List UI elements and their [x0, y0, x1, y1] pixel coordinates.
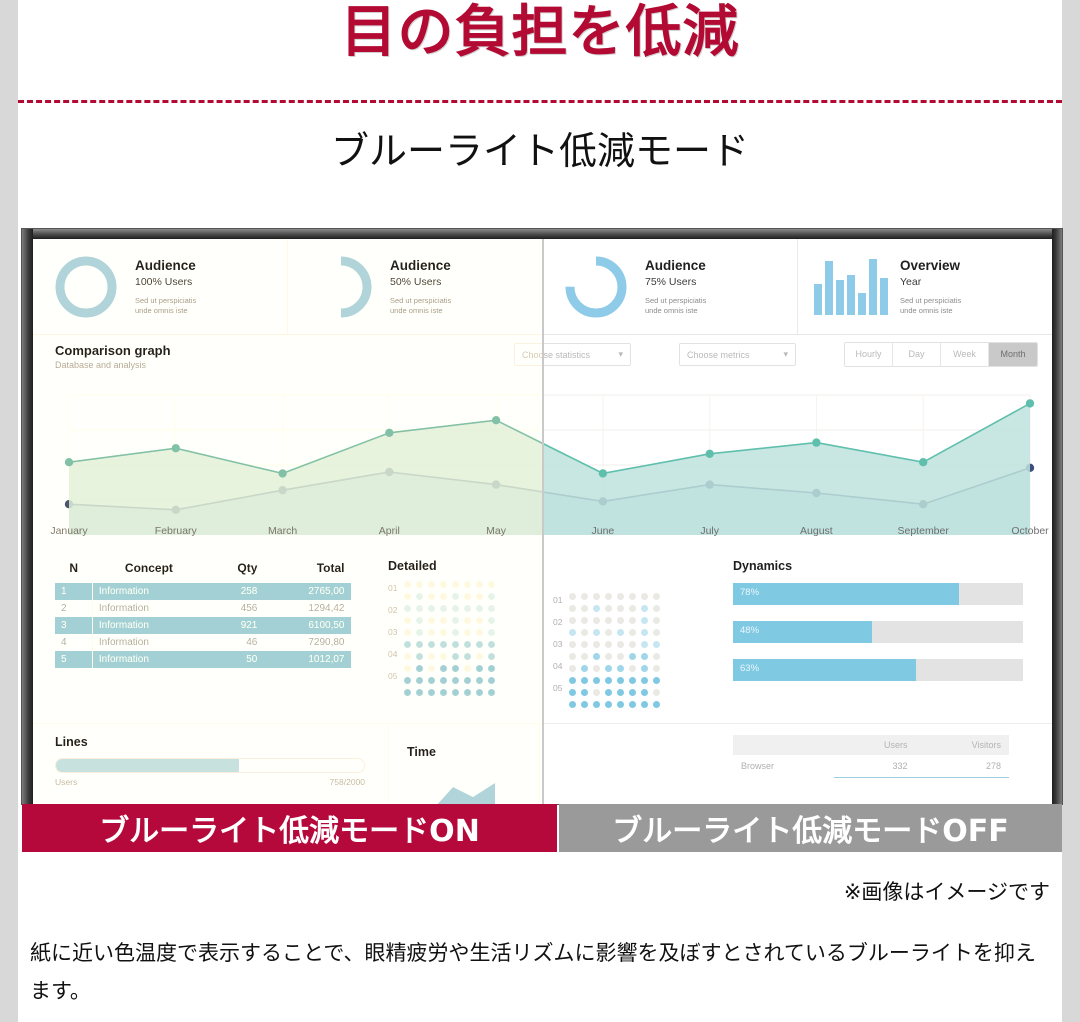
detail-dot-6-4-on [452, 653, 459, 660]
detail-dot-0-6-offb [641, 593, 648, 600]
detail-dot-7-4-offb [617, 677, 624, 684]
lines-meta-on: Users 758/2000 [55, 777, 365, 787]
detail-dot-5-1-offb [581, 653, 588, 660]
chart-point-s0-0-on [65, 458, 73, 466]
lines-count-on: 758/2000 [330, 777, 365, 787]
chart-xtick-5-off: June [592, 525, 615, 537]
detail-dot-1-6-offb [641, 605, 648, 612]
detail-dot-3-1-on [416, 617, 423, 624]
detail-dot-3-0-on [404, 617, 411, 624]
detail-dot-1-0-offb [569, 605, 576, 612]
detail-dot-5-2-offb [593, 653, 600, 660]
detail-row-label-02-offb: 02 [553, 617, 562, 639]
chart-xtick-4-on: May [486, 525, 506, 537]
detailed-block-on: Detailed 0504030201 [388, 559, 495, 696]
donut-ring-icon-on-1 [309, 255, 373, 319]
concept-table-on: NConceptQtyTotal 1 Information 258 2765,… [55, 559, 351, 668]
cell-concept-4-on: Information [92, 651, 205, 668]
chart-point-s0-3-on [385, 429, 393, 437]
kpi-title-1-on: Audience [390, 258, 451, 274]
detail-dot-6-7-offb [653, 665, 660, 672]
detail-dot-4-4-offb [617, 641, 624, 648]
detail-row-label-02-on: 02 [388, 605, 397, 627]
chart-xtick-9-off: October [1011, 525, 1048, 537]
detail-dot-7-1-offb [581, 677, 588, 684]
detail-row-label-01-on: 01 [388, 583, 397, 605]
browser-block-off: Users Visitors Browser 332 278 [733, 735, 1009, 778]
detail-dot-1-1-offb [581, 605, 588, 612]
kpi-text-1-on: Audience 50% Users Sed ut perspiciatisun… [380, 258, 451, 315]
detail-dot-4-6-offb [641, 641, 648, 648]
kpi-value-2-off: 75% Users [645, 275, 706, 289]
kpi-title-3-off: Overview [900, 258, 961, 274]
detail-dot-9-6-offb [641, 701, 648, 708]
kpi-visual-3-off [812, 251, 890, 323]
detail-dot-0-2-on [428, 581, 435, 588]
browser-users-off: 332 [834, 755, 915, 778]
detail-dot-8-4-offb [617, 689, 624, 696]
detail-dot-0-4-on [452, 581, 459, 588]
page-root: 目の負担を低減 ブルーライト低減モード Audience 100% Users … [18, 0, 1062, 1022]
detail-dot-1-7-on [488, 593, 495, 600]
table-row-on[interactable]: 1 Information 258 2765,00 [55, 583, 351, 600]
detail-dot-6-6-offb [641, 665, 648, 672]
chart-xtick-3-on: April [379, 525, 400, 537]
table-row-on[interactable]: 3 Information 921 6100,50 [55, 617, 351, 634]
range-option-week-off[interactable]: Week [941, 343, 989, 366]
detail-dot-4-5-offb [629, 641, 636, 648]
detail-dot-9-3-offb [605, 701, 612, 708]
cell-concept-3-on: Information [92, 634, 205, 651]
monitor-screen: Audience 100% Users Sed ut perspiciatisu… [33, 239, 1052, 804]
detail-dot-7-1-on [416, 665, 423, 672]
detail-dot-1-7-offb [653, 605, 660, 612]
detail-dot-5-7-offb [653, 653, 660, 660]
detail-dot-3-6-on [476, 617, 483, 624]
detail-dot-2-6-on [476, 605, 483, 612]
lines-title-on: Lines [55, 735, 365, 749]
chart-point-s0-7-off [812, 438, 820, 446]
detail-row-label-03-offb: 03 [553, 639, 562, 661]
feature-description: 紙に近い色温度で表示することで、眼精疲労や生活リズムに影響を及ぼすとされているブ… [30, 934, 1054, 1010]
statistics-select-on[interactable]: Choose statistics▾ [514, 343, 542, 366]
detail-dot-6-3-on [440, 653, 447, 660]
dynamics-bar-0-off: 78% [733, 583, 1023, 605]
detail-dot-3-3-on [440, 617, 447, 624]
detail-row-label-04-on: 04 [388, 649, 397, 671]
detail-row-label-05-offb: 05 [553, 683, 562, 705]
detail-dot-7-3-offb [605, 677, 612, 684]
time-card-on[interactable]: Time [388, 723, 540, 804]
detail-dot-4-1-on [416, 629, 423, 636]
detail-dot-9-1-on [416, 689, 423, 696]
detail-dot-1-6-on [476, 593, 483, 600]
detail-dot-9-2-offb [593, 701, 600, 708]
tint-normal: Audience 100% Users Sed ut perspiciatisu… [544, 239, 1052, 804]
detail-dot-1-5-offb [629, 605, 636, 612]
detailed-block-2-off: 0504030201 [553, 593, 660, 708]
detail-dot-6-2-offb [593, 665, 600, 672]
detail-dot-9-2-on [428, 689, 435, 696]
detail-dot-0-6-on [476, 581, 483, 588]
detail-dot-8-7-on [488, 677, 495, 684]
detail-dot-2-3-on [440, 605, 447, 612]
detail-dot-9-0-offb [569, 701, 576, 708]
detail-dot-7-7-on [488, 665, 495, 672]
banner-bluelight-off: ブルーライト低減モードOFF [559, 804, 1062, 852]
detail-dot-4-0-on [404, 629, 411, 636]
detail-dot-2-6-offb [641, 617, 648, 624]
detail-dot-6-0-offb [569, 665, 576, 672]
page-title: 目の負担を低減 [18, 2, 1062, 64]
table-col-n-on: N [55, 559, 92, 583]
detail-dot-0-2-offb [593, 593, 600, 600]
table-header-row-on: NConceptQtyTotal [55, 559, 351, 583]
statistics-select-off[interactable]: Choose statistics▾ [544, 343, 631, 366]
table-col-concept-on: Concept [92, 559, 205, 583]
kpi-text-3-off: Overview Year Sed ut perspiciatisunde om… [890, 258, 961, 315]
statistics-select-label-off: Choose statistics [544, 350, 590, 360]
detail-row-labels-on: 0504030201 [388, 581, 397, 693]
detail-dot-8-4-on [452, 677, 459, 684]
detail-dot-0-0-offb [569, 593, 576, 600]
range-segmented-control-off[interactable]: HourlyDayWeekMonth [844, 342, 1038, 367]
detail-dot-9-5-offb [629, 701, 636, 708]
cell-qty-1-on: 456 [205, 600, 263, 617]
detail-row-label-01-offb: 01 [553, 595, 562, 617]
detail-dot-0-1-offb [581, 593, 588, 600]
detail-dot-2-5-on [464, 605, 471, 612]
detail-dot-2-4-offb [617, 617, 624, 624]
detail-dot-3-0-offb [569, 629, 576, 636]
detail-dot-1-3-on [440, 593, 447, 600]
chart-xtick-1-on: February [155, 525, 197, 537]
chart-xtick-7-off: August [800, 525, 833, 537]
kpi-card-3-off[interactable]: Overview Year Sed ut perspiciatisunde om… [798, 239, 1052, 334]
detail-dot-3-4-on [452, 617, 459, 624]
detail-row-labels-offb: 0504030201 [553, 593, 562, 705]
browser-row-label-off: Browser [733, 755, 834, 778]
kpi-visual-0-on [47, 251, 125, 323]
kpi-text-0-on: Audience 100% Users Sed ut perspiciatisu… [125, 258, 196, 315]
detailed-title-on: Detailed [388, 559, 495, 573]
detail-dot-9-6-on [476, 689, 483, 696]
detail-dot-6-3-offb [605, 665, 612, 672]
detail-dot-0-4-offb [617, 593, 624, 600]
comparison-subtitle-on: Database and analysis [55, 360, 146, 370]
dynamics-label-0-off: 78% [740, 587, 759, 598]
detail-dot-8-1-offb [581, 689, 588, 696]
chart-xtick-2-on: March [268, 525, 297, 537]
cell-total-4-on: 1012,07 [263, 651, 350, 668]
chart-point-s0-4-on [492, 416, 500, 424]
detailed-grid-offb: 0504030201 [553, 593, 660, 708]
metrics-select-off[interactable]: Choose metrics▾ [679, 343, 796, 366]
image-disclaimer: ※画像はイメージです [844, 876, 1050, 906]
detail-dot-2-4-on [452, 605, 459, 612]
detail-dot-9-4-offb [617, 701, 624, 708]
comparison-controls-off: Choose statistics▾ Choose metrics▾ Hourl… [544, 342, 1038, 367]
detail-dot-8-1-on [416, 677, 423, 684]
kpi-value-3-off: Year [900, 275, 961, 289]
detail-dot-7-7-offb [653, 677, 660, 684]
detail-dot-5-7-on [488, 641, 495, 648]
detail-dot-4-7-offb [653, 641, 660, 648]
detail-dot-9-0-on [404, 689, 411, 696]
kpi-visual-1-on [302, 251, 380, 323]
detail-dot-8-3-on [440, 677, 447, 684]
chart-area-series-0-off [544, 403, 1030, 535]
detail-dot-4-0-offb [569, 641, 576, 648]
kpi-card-1-on[interactable]: Audience 50% Users Sed ut perspiciatisun… [288, 239, 542, 334]
cell-n-3-on: 4 [55, 634, 92, 651]
detail-dot-8-2-offb [593, 689, 600, 696]
time-card-sparkline-icon-on [435, 781, 495, 804]
kpi-note-3-off: Sed ut perspiciatisunde omnis iste [900, 296, 961, 315]
mini-bar-chart-icon-off [814, 259, 888, 315]
table-col-qty-on: Qty [205, 559, 263, 583]
detail-dot-3-2-offb [593, 629, 600, 636]
kpi-value-0-on: 100% Users [135, 275, 196, 289]
detail-dot-8-0-offb [569, 689, 576, 696]
detail-dot-6-7-on [488, 653, 495, 660]
kpi-note-2-off: Sed ut perspiciatisunde omnis iste [645, 296, 706, 315]
cell-concept-2-on: Information [92, 617, 205, 634]
detail-dot-2-1-offb [581, 617, 588, 624]
chevron-down-icon-metrics-off: ▾ [783, 349, 788, 360]
screen-half-bluelight-on: Audience 100% Users Sed ut perspiciatisu… [33, 239, 542, 804]
detail-dot-4-4-on [452, 629, 459, 636]
kpi-card-2-off[interactable]: Audience 75% Users Sed ut perspiciatisun… [544, 239, 798, 334]
browser-col-blank-off [733, 735, 834, 755]
detail-dot-4-7-on [488, 629, 495, 636]
chart-point-s0-8-off [919, 458, 927, 466]
detail-dot-7-5-offb [629, 677, 636, 684]
detail-dot-5-4-on [452, 641, 459, 648]
table-block-on: NConceptQtyTotal 1 Information 258 2765,… [55, 559, 351, 668]
detail-dot-3-5-offb [629, 629, 636, 636]
detail-dot-6-4-offb [617, 665, 624, 672]
detail-dot-8-5-on [464, 677, 471, 684]
kpi-title-2-off: Audience [645, 258, 706, 274]
detail-dot-3-7-on [488, 617, 495, 624]
detail-dot-5-5-offb [629, 653, 636, 660]
detail-dot-7-2-on [428, 665, 435, 672]
kpi-row-off: Audience 100% Users Sed ut perspiciatisu… [544, 239, 1052, 335]
kpi-row-on: Audience 100% Users Sed ut perspiciatisu… [33, 239, 542, 335]
detail-dot-4-3-offb [605, 641, 612, 648]
detail-dot-6-0-on [404, 653, 411, 660]
chart-point-s0-6-off [706, 450, 714, 458]
chart-xtick-8-off: September [898, 525, 949, 537]
detail-dot-3-3-offb [605, 629, 612, 636]
detail-dot-2-7-on [488, 605, 495, 612]
lines-progress-bar-on[interactable] [55, 758, 365, 773]
comparison-header-on: Comparison graph Database and analysis C… [33, 335, 542, 385]
bezel-left [22, 229, 33, 804]
chart-point-s0-2-on [278, 469, 286, 477]
detail-dot-4-6-on [476, 629, 483, 636]
detail-dot-6-1-offb [581, 665, 588, 672]
dynamics-bar-2-off: 63% [733, 659, 1023, 681]
dynamics-label-1-off: 48% [740, 625, 759, 636]
detail-dot-9-4-on [452, 689, 459, 696]
detail-dot-9-3-on [440, 689, 447, 696]
detail-dot-5-4-offb [617, 653, 624, 660]
chart-xaxis-labels-on: JanuaryFebruaryMarchAprilMayJuneJulyAugu… [33, 525, 542, 549]
monitor-device: Audience 100% Users Sed ut perspiciatisu… [22, 229, 1062, 804]
detail-dot-0-3-on [440, 581, 447, 588]
lines-axis-label-on: Users [55, 777, 77, 787]
range-option-day-off[interactable]: Day [893, 343, 941, 366]
chart-point-s0-9-off [1026, 399, 1034, 407]
chart-point-s0-5-off [599, 469, 607, 477]
range-option-hourly-off[interactable]: Hourly [845, 343, 893, 366]
dynamics-block-off: Dynamics 78% 48% 63% [733, 559, 1023, 697]
bezel-right [1052, 229, 1062, 804]
detail-row-label-04-offb: 04 [553, 661, 562, 683]
detail-dot-8-3-offb [605, 689, 612, 696]
kpi-card-0-on[interactable]: Audience 100% Users Sed ut perspiciatisu… [33, 239, 288, 334]
detail-dot-6-2-on [428, 653, 435, 660]
detail-dot-9-5-on [464, 689, 471, 696]
detail-dot-2-0-offb [569, 617, 576, 624]
browser-col-visitors-off: Visitors [916, 735, 1010, 755]
cell-concept-1-on: Information [92, 600, 205, 617]
detail-dot-4-5-on [464, 629, 471, 636]
detail-dot-1-0-on [404, 593, 411, 600]
detail-dot-1-3-offb [605, 605, 612, 612]
chart-point-s0-1-on [172, 444, 180, 452]
detail-dot-2-2-offb [593, 617, 600, 624]
detail-dot-8-6-on [476, 677, 483, 684]
table-row-on[interactable]: 5 Information 50 1012,07 [55, 651, 351, 668]
dynamics-label-2-off: 63% [740, 663, 759, 674]
cell-n-0-on: 1 [55, 583, 92, 600]
detail-dot-5-1-on [416, 641, 423, 648]
detail-dot-2-1-on [416, 605, 423, 612]
chart-xtick-0-on: January [50, 525, 87, 537]
detail-dot-9-7-on [488, 689, 495, 696]
detail-dot-2-5-offb [629, 617, 636, 624]
table-col-total-on: Total [263, 559, 350, 583]
dynamics-bar-1-off: 48% [733, 621, 1023, 643]
detail-dot-1-4-offb [617, 605, 624, 612]
detail-row-label-03-on: 03 [388, 627, 397, 649]
detail-dot-2-2-on [428, 605, 435, 612]
detail-dot-7-0-offb [569, 677, 576, 684]
detail-dot-8-7-offb [653, 689, 660, 696]
browser-table-off: Users Visitors Browser 332 278 [733, 735, 1009, 778]
browser-visitors-off: 278 [916, 755, 1010, 778]
statistics-select-label-on: Choose statistics [522, 350, 542, 360]
comparison-controls-on: Choose statistics▾ Choose metrics▾ Hourl… [514, 342, 542, 367]
detail-dot-6-6-on [476, 653, 483, 660]
detail-dot-2-0-on [404, 605, 411, 612]
chart-xaxis-labels-off: JanuaryFebruaryMarchAprilMayJuneJulyAugu… [544, 525, 1052, 549]
detail-dot-7-4-on [452, 665, 459, 672]
detail-dot-0-5-on [464, 581, 471, 588]
detail-dot-5-5-on [464, 641, 471, 648]
detail-dot-6-5-offb [629, 665, 636, 672]
chart-xtick-6-off: July [700, 525, 719, 537]
detail-row-label-05-on: 05 [388, 671, 397, 693]
detail-dot-7-5-on [464, 665, 471, 672]
detail-dot-5-6-on [476, 641, 483, 648]
detail-dot-5-3-on [440, 641, 447, 648]
detail-dot-5-2-on [428, 641, 435, 648]
cell-qty-2-on: 921 [205, 617, 263, 634]
tint-warm: Audience 100% Users Sed ut perspiciatisu… [33, 239, 542, 804]
detail-dot-5-0-offb [569, 653, 576, 660]
kpi-visual-2-off [557, 251, 635, 323]
detail-dot-2-3-offb [605, 617, 612, 624]
detail-dot-3-5-on [464, 617, 471, 624]
detail-dot-matrix-on [404, 581, 495, 696]
detail-dot-0-3-offb [605, 593, 612, 600]
detail-dot-1-1-on [416, 593, 423, 600]
banner-bluelight-on: ブルーライト低減モードON [22, 804, 557, 852]
kpi-note-1-on: Sed ut perspiciatisunde omnis iste [390, 296, 451, 315]
detail-dot-2-7-offb [653, 617, 660, 624]
kpi-note-0-on: Sed ut perspiciatisunde omnis iste [135, 296, 196, 315]
detail-dot-4-1-offb [581, 641, 588, 648]
cell-total-2-on: 6100,50 [263, 617, 350, 634]
browser-row-off[interactable]: Browser 332 278 [733, 755, 1009, 778]
time-card-title-on: Time [407, 745, 539, 759]
table-row-on[interactable]: 4 Information 46 7290,80 [55, 634, 351, 651]
cell-qty-3-on: 46 [205, 634, 263, 651]
detail-dot-6-1-on [416, 653, 423, 660]
detail-dot-9-7-offb [653, 701, 660, 708]
detail-dot-7-6-offb [641, 677, 648, 684]
kpi-value-1-on: 50% Users [390, 275, 451, 289]
cell-total-1-on: 1294,42 [263, 600, 350, 617]
comparison-title-on: Comparison graph [55, 343, 171, 358]
dynamics-fill-2-off [733, 659, 916, 681]
detail-dot-0-7-on [488, 581, 495, 588]
detail-dot-5-3-offb [605, 653, 612, 660]
range-option-month-off[interactable]: Month [989, 343, 1037, 366]
detail-dot-7-2-offb [593, 677, 600, 684]
detailed-grid-on: 0504030201 [388, 581, 495, 696]
browser-header-row-off: Users Visitors [733, 735, 1009, 755]
metrics-select-label-off: Choose metrics [687, 350, 750, 360]
donut-ring-icon-off-2 [564, 255, 628, 319]
lines-block-on: Lines Users 758/2000 [55, 735, 365, 787]
screen-half-bluelight-off: Audience 100% Users Sed ut perspiciatisu… [544, 239, 1052, 804]
lower-divider-off [544, 723, 1052, 724]
table-row-on[interactable]: 2 Information 456 1294,42 [55, 600, 351, 617]
detail-dot-1-2-on [428, 593, 435, 600]
detail-dot-3-1-offb [581, 629, 588, 636]
detail-dot-0-5-offb [629, 593, 636, 600]
cell-qty-0-on: 258 [205, 583, 263, 600]
detail-dot-8-5-offb [629, 689, 636, 696]
donut-ring-icon-on-0 [54, 255, 118, 319]
detail-dot-3-4-offb [617, 629, 624, 636]
detail-dot-8-0-on [404, 677, 411, 684]
detail-dot-9-1-offb [581, 701, 588, 708]
cell-total-3-on: 7290,80 [263, 634, 350, 651]
detail-dot-5-6-offb [641, 653, 648, 660]
detail-dot-1-5-on [464, 593, 471, 600]
cell-n-4-on: 5 [55, 651, 92, 668]
detail-dot-7-6-on [476, 665, 483, 672]
dynamics-fill-0-off [733, 583, 959, 605]
comparison-header-off: Comparison graph Database and analysis C… [544, 335, 1052, 385]
dashboard-on: Audience 100% Users Sed ut perspiciatisu… [33, 239, 542, 804]
